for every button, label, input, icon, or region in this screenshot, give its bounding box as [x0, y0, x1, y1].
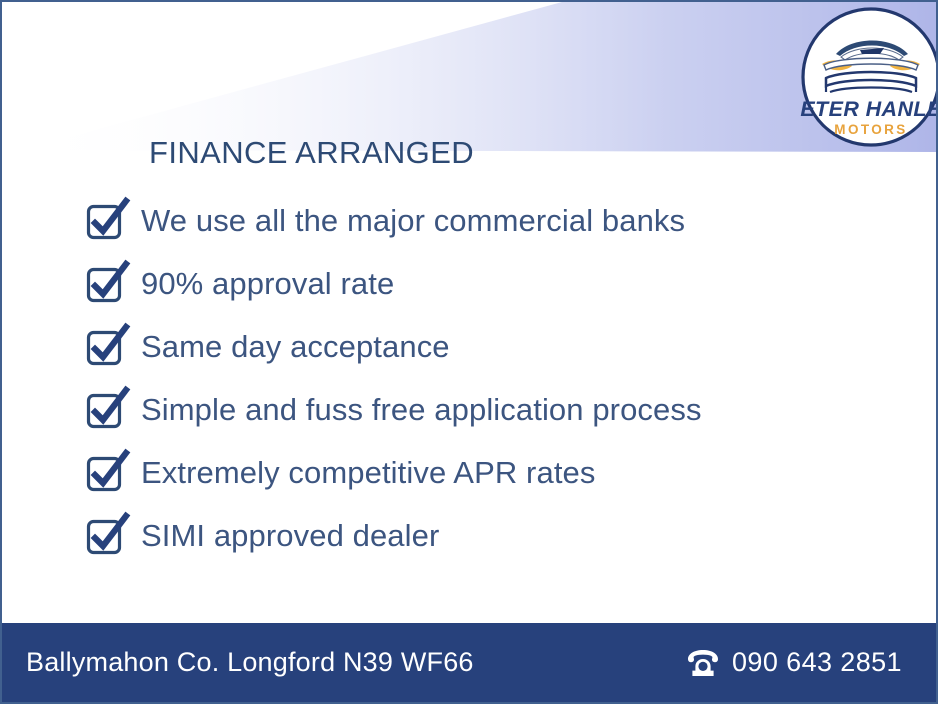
list-item: SIMI approved dealer — [83, 503, 923, 566]
list-item: 90% approval rate — [83, 251, 923, 314]
list-item-label: Simple and fuss free application process — [141, 394, 702, 425]
checkbox-checked-icon — [83, 259, 131, 307]
dealer-phone[interactable]: 090 643 2851 — [686, 647, 902, 678]
page-title: FINANCE ARRANGED — [149, 135, 474, 171]
checkbox-checked-icon — [83, 385, 131, 433]
feature-list: We use all the major commercial banks 90… — [83, 188, 923, 566]
list-item-label: SIMI approved dealer — [141, 520, 439, 551]
finance-promo-poster: PETER HANLEY MOTORS FINANCE ARRANGED We … — [0, 0, 938, 704]
dealer-address: Ballymahon Co. Longford N39 WF66 — [26, 647, 474, 678]
checkbox-checked-icon — [83, 448, 131, 496]
footer-bar: Ballymahon Co. Longford N39 WF66 090 643… — [2, 623, 936, 702]
list-item: Extremely competitive APR rates — [83, 440, 923, 503]
list-item: We use all the major commercial banks — [83, 188, 923, 251]
list-item: Same day acceptance — [83, 314, 923, 377]
list-item-label: Same day acceptance — [141, 331, 450, 362]
checkbox-checked-icon — [83, 322, 131, 370]
list-item-label: 90% approval rate — [141, 268, 394, 299]
checkbox-checked-icon — [83, 196, 131, 244]
peter-hanley-motors-logo: PETER HANLEY MOTORS — [800, 6, 938, 148]
list-item-label: We use all the major commercial banks — [141, 205, 685, 236]
dealer-phone-number: 090 643 2851 — [732, 647, 902, 678]
telephone-icon — [686, 648, 720, 678]
logo-sub-text: MOTORS — [834, 122, 907, 137]
logo-name-text: PETER HANLEY — [800, 97, 938, 121]
list-item-label: Extremely competitive APR rates — [141, 457, 595, 488]
logo-svg: PETER HANLEY MOTORS — [800, 6, 938, 148]
checkbox-checked-icon — [83, 511, 131, 559]
list-item: Simple and fuss free application process — [83, 377, 923, 440]
